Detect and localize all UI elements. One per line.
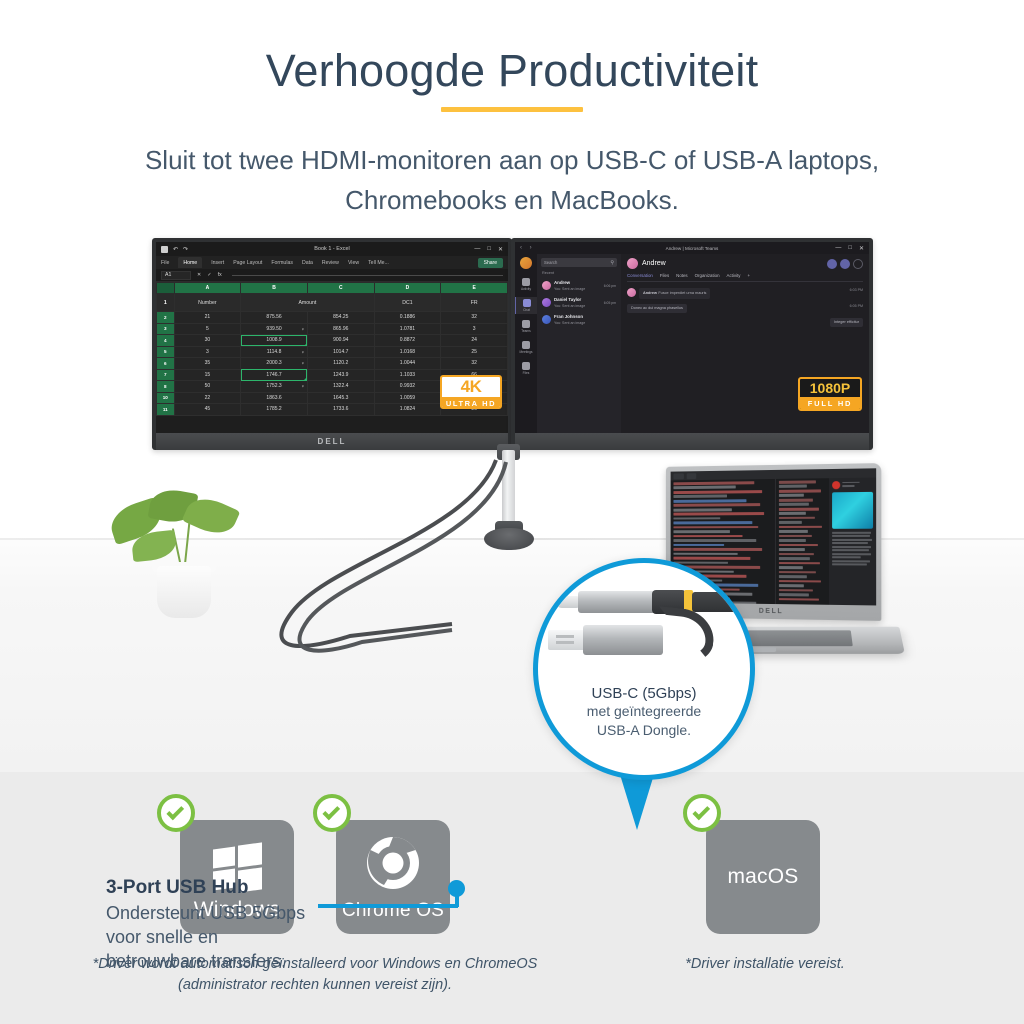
teams-app-rail[interactable]: Activity Chat Teams <box>515 254 537 433</box>
excel-cell[interactable]: 865.96 <box>307 323 374 335</box>
excel-cell-selected[interactable]: 1008.9 <box>241 335 308 347</box>
excel-row-number[interactable]: 3 <box>157 323 175 335</box>
excel-cell[interactable]: 1120.2 <box>307 358 374 370</box>
chat-preview: You: Sent an image <box>554 321 585 325</box>
chat-name: Andrew <box>554 280 570 285</box>
excel-cell[interactable]: 1.0168 <box>374 346 441 358</box>
badge-1080p-title: 1080P <box>800 379 860 397</box>
excel-cell[interactable]: 1863.6 <box>241 392 308 404</box>
excel-cell[interactable]: 1785.2 <box>241 404 308 416</box>
annotation-line-2: voor snelle en <box>106 925 356 949</box>
maximize-icon[interactable]: □ <box>848 245 852 252</box>
table-row: 4 30 1008.9 900.94 0.8872 24 <box>157 335 508 347</box>
teams-window-buttons[interactable]: — □ ✕ <box>835 245 864 252</box>
left-monitor-bezel: DELL <box>156 433 508 450</box>
excel-tab-formulas[interactable]: Formulas <box>271 260 293 266</box>
people-icon <box>522 320 530 328</box>
calendar-icon <box>522 341 530 349</box>
chat-meta: Daniel Taylor You: Sent an image <box>554 297 601 309</box>
chat-time: 6:06 pm <box>604 284 616 288</box>
record-icon <box>832 481 840 489</box>
chat-icon <box>523 299 531 307</box>
excel-cell[interactable]: 3 <box>174 346 241 358</box>
recent-label: Recent <box>542 271 617 275</box>
excel-titlebar: ↶ ↷ Book 1 - Excel — □ ✕ <box>156 242 508 256</box>
audio-call-icon[interactable] <box>840 259 850 269</box>
message-outgoing: Donec ac dui magna phasellus 6:05 PM <box>627 304 863 313</box>
left-monitor-screen: ↶ ↷ Book 1 - Excel — □ ✕ File Home <box>156 242 508 433</box>
sidebar-item-files[interactable]: Files <box>515 360 537 377</box>
excel-column-headers: A B C D E <box>157 283 508 294</box>
chat-meta: Andrew You: Sent an image <box>554 280 601 292</box>
excel-tab-insert[interactable]: Insert <box>211 260 224 266</box>
excel-cell[interactable]: 1733.6 <box>307 404 374 416</box>
excel-cell[interactable]: 0.9932 <box>374 381 441 393</box>
callout-line-1: USB-C (5Gbps) <box>538 685 750 702</box>
excel-cell[interactable]: 1.1033 <box>374 369 441 381</box>
resolution-badge-1080p: 1080P FULL HD <box>798 377 862 411</box>
leader-endpoint-dot <box>448 880 465 897</box>
excel-cell[interactable]: 1752.3 <box>241 381 308 393</box>
excel-tab-review[interactable]: Review <box>322 260 339 266</box>
teams-chat-list[interactable]: Search ⚲ Recent Andrew You: Sent an imag… <box>537 254 621 433</box>
excel-col-e[interactable]: E <box>441 283 508 294</box>
excel-row-number[interactable]: 2 <box>157 312 175 324</box>
excel-cell[interactable]: 32 <box>441 312 508 324</box>
teams-titlebar: ‹ › Andrew | Microsoft Teams — □ ✕ <box>515 242 869 254</box>
callout-line-2: met geïntegreerde <box>538 702 750 721</box>
function-icon[interactable]: fx <box>218 272 222 278</box>
message-bubble: Andrew Fusce imperdiet urna mauris <box>639 288 710 299</box>
usb-a-body <box>583 625 663 655</box>
sidebar-item-label: Teams <box>521 329 530 333</box>
excel-tab-data[interactable]: Data <box>302 260 313 266</box>
usb-c-cable <box>692 592 736 612</box>
excel-cell[interactable]: 22 <box>174 392 241 404</box>
chrome-icon <box>366 836 420 890</box>
excel-name-box[interactable]: A1 <box>161 271 191 280</box>
tab-item <box>673 473 683 479</box>
excel-cell[interactable]: 900.94 <box>307 335 374 347</box>
cancel-icon[interactable]: ✕ <box>197 272 201 278</box>
sidebar-item-meetings[interactable]: Meetings <box>515 339 537 356</box>
maximize-icon[interactable]: □ <box>487 246 491 253</box>
excel-tab-home[interactable]: Home <box>178 257 202 268</box>
sidebar-item-label: Files <box>523 371 530 375</box>
check-badge-chromeos <box>313 794 351 832</box>
product-infographic: Verhoogde Productiviteit Sluit tot twee … <box>0 0 1024 1024</box>
excel-cell[interactable]: Number <box>174 294 241 312</box>
excel-cell[interactable]: FR <box>441 294 508 312</box>
sidebar-item-activity[interactable]: Activity <box>515 276 537 293</box>
sidebar-item-teams[interactable]: Teams <box>515 318 537 335</box>
chrome-icon-svg <box>366 836 420 890</box>
preview-header <box>832 481 873 490</box>
excel-col-a[interactable]: A <box>174 283 241 294</box>
excel-cell[interactable]: 2000.3 <box>241 358 308 370</box>
chat-preview: You: Sent an image <box>554 304 585 308</box>
os-card-macos: macOS <box>706 820 820 934</box>
excel-cell[interactable]: 1.0044 <box>374 358 441 370</box>
chat-meta: Fran Johnson You: Sent an image <box>554 314 613 326</box>
minimize-icon[interactable]: — <box>835 245 841 252</box>
add-tab-icon[interactable]: + <box>747 273 750 278</box>
right-monitor-bezel <box>515 433 869 450</box>
conversation-header: Andrew <box>627 258 863 269</box>
usb-a-contact <box>556 635 574 638</box>
excel-cell[interactable]: 35 <box>174 358 241 370</box>
callout-text: USB-C (5Gbps) met geïntegreerde USB-A Do… <box>538 685 750 740</box>
excel-cell[interactable]: 1243.9 <box>307 369 374 381</box>
video-call-icon[interactable] <box>827 259 837 269</box>
tab-organization[interactable]: Organization <box>695 273 720 278</box>
excel-tab-view[interactable]: View <box>348 260 359 266</box>
code-pane-middle <box>775 478 829 605</box>
product-scene: ↶ ↷ Book 1 - Excel — □ ✕ File Home <box>0 232 1024 772</box>
right-monitor-screen: ‹ › Andrew | Microsoft Teams — □ ✕ <box>515 242 869 433</box>
excel-window-buttons[interactable]: — □ ✕ <box>474 246 503 253</box>
chat-name: Daniel Taylor <box>554 297 581 302</box>
footnote-right: *Driver installatie vereist. <box>600 954 930 975</box>
excel-row-number[interactable]: 7 <box>157 369 175 381</box>
search-icon[interactable]: ⚲ <box>610 260 614 266</box>
excel-ribbon[interactable]: File Home Insert Page Layout Formulas Da… <box>156 256 508 269</box>
preview-paragraph <box>832 532 873 566</box>
excel-cell[interactable]: 24 <box>441 335 508 347</box>
excel-col-d[interactable]: D <box>374 283 441 294</box>
excel-cell[interactable]: 1.0781 <box>374 323 441 335</box>
monitor-stand-base <box>484 528 534 550</box>
excel-row-number[interactable]: 6 <box>157 358 175 370</box>
avatar <box>627 288 636 297</box>
check-icon <box>322 802 340 820</box>
excel-tab-file[interactable]: File <box>161 260 169 266</box>
excel-row-number[interactable]: 5 <box>157 346 175 358</box>
check-badge-macos <box>683 794 721 832</box>
excel-cell[interactable]: 1114.8 <box>241 346 308 358</box>
message-time: 6:05 PM <box>850 304 863 308</box>
tab-files[interactable]: Files <box>660 273 669 278</box>
usb-c-body <box>578 591 656 613</box>
avatar <box>542 315 551 324</box>
plant-pot <box>157 566 211 618</box>
tab-activity[interactable]: Activity <box>727 273 741 278</box>
tab-item <box>686 473 695 479</box>
table-row: 2 21 875.56 854.25 0.1886 32 <box>157 312 508 324</box>
excel-cell[interactable]: 5 <box>174 323 241 335</box>
badge-1080p-subtitle: FULL HD <box>800 397 860 409</box>
os-label: macOS <box>727 865 798 889</box>
badge-4k-title: 4K <box>442 377 500 397</box>
excel-row-number[interactable]: 8 <box>157 381 175 393</box>
chat-preview: You: Sent an image <box>554 287 585 291</box>
excel-cell[interactable]: 1645.3 <box>307 392 374 404</box>
search-placeholder: Search <box>544 260 557 265</box>
page-subtitle: Sluit tot twee HDMI-monitoren aan op USB… <box>0 140 1024 221</box>
excel-row-number[interactable]: 4 <box>157 335 175 347</box>
usb-a-contact <box>556 641 574 644</box>
teams-window-title: Andrew | Microsoft Teams <box>515 246 869 251</box>
excel-cell[interactable]: 30 <box>174 335 241 347</box>
annotation-line-3: betrouwbare transfers. <box>106 949 356 973</box>
message-text: Fusce imperdiet urna mauris <box>658 291 706 295</box>
excel-formula-input[interactable] <box>232 275 503 276</box>
minimize-icon[interactable]: — <box>474 246 480 253</box>
conversation-tabs[interactable]: Conversation Files Notes Organization Ac… <box>627 273 863 282</box>
excel-cell[interactable]: 1014.7 <box>307 346 374 358</box>
table-row: 3 5 939.50 865.96 1.0781 3 <box>157 323 508 335</box>
excel-row-number[interactable]: 1 <box>157 294 175 312</box>
sidebar-item-label: Activity <box>521 287 531 291</box>
excel-cell[interactable]: 939.50 <box>241 323 308 335</box>
resolution-badge-4k: 4K ULTRA HD <box>440 375 502 409</box>
excel-tell-me[interactable]: Tell Me... <box>368 260 389 266</box>
hub-annotation: 3-Port USB Hub Ondersteunt USB 5Gbps voo… <box>106 877 356 973</box>
table-row: 5 3 1114.8 1014.7 1.0168 25 <box>157 346 508 358</box>
usb-a-tip <box>548 630 586 650</box>
list-item[interactable]: Fran Johnson You: Sent an image <box>541 311 617 328</box>
excel-col-c[interactable]: C <box>307 283 374 294</box>
tab-conversation[interactable]: Conversation <box>627 273 653 278</box>
search-input[interactable]: Search ⚲ <box>541 258 617 267</box>
avatar <box>542 298 551 307</box>
preview-meta <box>842 481 873 488</box>
page-title: Verhoogde Productiviteit <box>0 0 1024 96</box>
message-outgoing: Integer efficitur <box>627 318 863 327</box>
list-item[interactable]: Daniel Taylor You: Sent an image 6:05 pm <box>541 294 617 311</box>
bell-icon <box>522 278 530 286</box>
files-icon <box>522 362 530 370</box>
excel-cell[interactable]: 0.8872 <box>374 335 441 347</box>
excel-cell[interactable]: 45 <box>174 404 241 416</box>
excel-cell[interactable]: 25 <box>441 346 508 358</box>
excel-cell[interactable]: 32 <box>441 358 508 370</box>
conversation-title: Andrew <box>642 260 666 267</box>
check-badge-windows <box>157 794 195 832</box>
excel-share-button[interactable]: Share <box>478 258 503 268</box>
callout-bubble: USB-C (5Gbps) met geïntegreerde USB-A Do… <box>533 558 755 780</box>
avatar[interactable] <box>520 257 532 269</box>
dell-logo: DELL <box>759 607 783 614</box>
table-row: 6 35 2000.3 1120.2 1.0044 32 <box>157 358 508 370</box>
check-icon <box>166 802 184 820</box>
excel-cell[interactable]: 1322.4 <box>307 381 374 393</box>
excel-cell[interactable]: Amount <box>241 294 374 312</box>
sidebar-item-label: Meetings <box>520 350 533 354</box>
excel-cell[interactable]: 1.0824 <box>374 404 441 416</box>
message-text: Integer efficitur <box>830 318 863 327</box>
header: Verhoogde Productiviteit Sluit tot twee … <box>0 0 1024 240</box>
excel-cell[interactable]: DC1 <box>374 294 441 312</box>
list-item[interactable]: Andrew You: Sent an image 6:06 pm <box>541 277 617 294</box>
excel-row-number[interactable]: 11 <box>157 404 175 416</box>
message-time: 6:03 PM <box>850 288 863 292</box>
excel-select-all[interactable] <box>157 283 175 294</box>
table-row: 1 Number Amount DC1 FR <box>157 294 508 312</box>
excel-cell[interactable]: 21 <box>174 312 241 324</box>
sidebar-item-label: Chat <box>523 308 530 312</box>
message-text: Donec ac dui magna phasellus <box>627 304 687 313</box>
avatar <box>627 258 638 269</box>
chat-time: 6:05 pm <box>604 301 616 305</box>
left-monitor: ↶ ↷ Book 1 - Excel — □ ✕ File Home <box>152 238 512 450</box>
excel-formula-bar[interactable]: A1 ✕ ✓ fx <box>156 269 508 282</box>
excel-cell[interactable]: 1.0059 <box>374 392 441 404</box>
excel-cell[interactable]: 875.56 <box>241 312 308 324</box>
excel-cell[interactable]: 0.1886 <box>374 312 441 324</box>
connector-illustration <box>538 573 755 685</box>
tab-notes[interactable]: Notes <box>676 273 687 278</box>
excel-cell[interactable]: 854.25 <box>307 312 374 324</box>
excel-window-title: Book 1 - Excel <box>156 246 508 252</box>
excel-row-number[interactable]: 10 <box>157 392 175 404</box>
excel-tab-page-layout[interactable]: Page Layout <box>233 260 262 266</box>
excel-cell[interactable]: 50 <box>174 381 241 393</box>
badge-4k-subtitle: ULTRA HD <box>442 397 500 409</box>
chat-name: Fran Johnson <box>554 314 583 319</box>
avatar <box>542 281 551 290</box>
annotation-title: 3-Port USB Hub <box>106 877 356 899</box>
excel-col-b[interactable]: B <box>241 283 308 294</box>
callout-line-3: USB-A Dongle. <box>538 721 750 740</box>
right-monitor: ‹ › Andrew | Microsoft Teams — □ ✕ <box>511 238 873 450</box>
preview-pane <box>829 478 876 606</box>
excel-cell[interactable]: 3 <box>441 323 508 335</box>
close-icon[interactable]: ✕ <box>498 246 503 253</box>
excel-cell[interactable]: 15 <box>174 369 241 381</box>
confirm-icon[interactable]: ✓ <box>207 272 211 278</box>
annotation-line-1: Ondersteunt USB 5Gbps <box>106 901 356 925</box>
message-incoming: Andrew Fusce imperdiet urna mauris 6:03 … <box>627 288 863 299</box>
check-icon <box>692 802 710 820</box>
preview-image <box>832 492 873 529</box>
close-icon[interactable]: ✕ <box>859 245 864 252</box>
title-underline <box>441 107 583 112</box>
share-screen-icon[interactable] <box>853 259 863 269</box>
conversation-actions[interactable] <box>827 259 863 269</box>
sidebar-item-chat[interactable]: Chat <box>515 297 537 314</box>
dell-logo: DELL <box>318 437 347 446</box>
excel-cell-selected[interactable]: 1746.7 <box>241 369 308 381</box>
message-sender: Andrew <box>643 291 657 295</box>
